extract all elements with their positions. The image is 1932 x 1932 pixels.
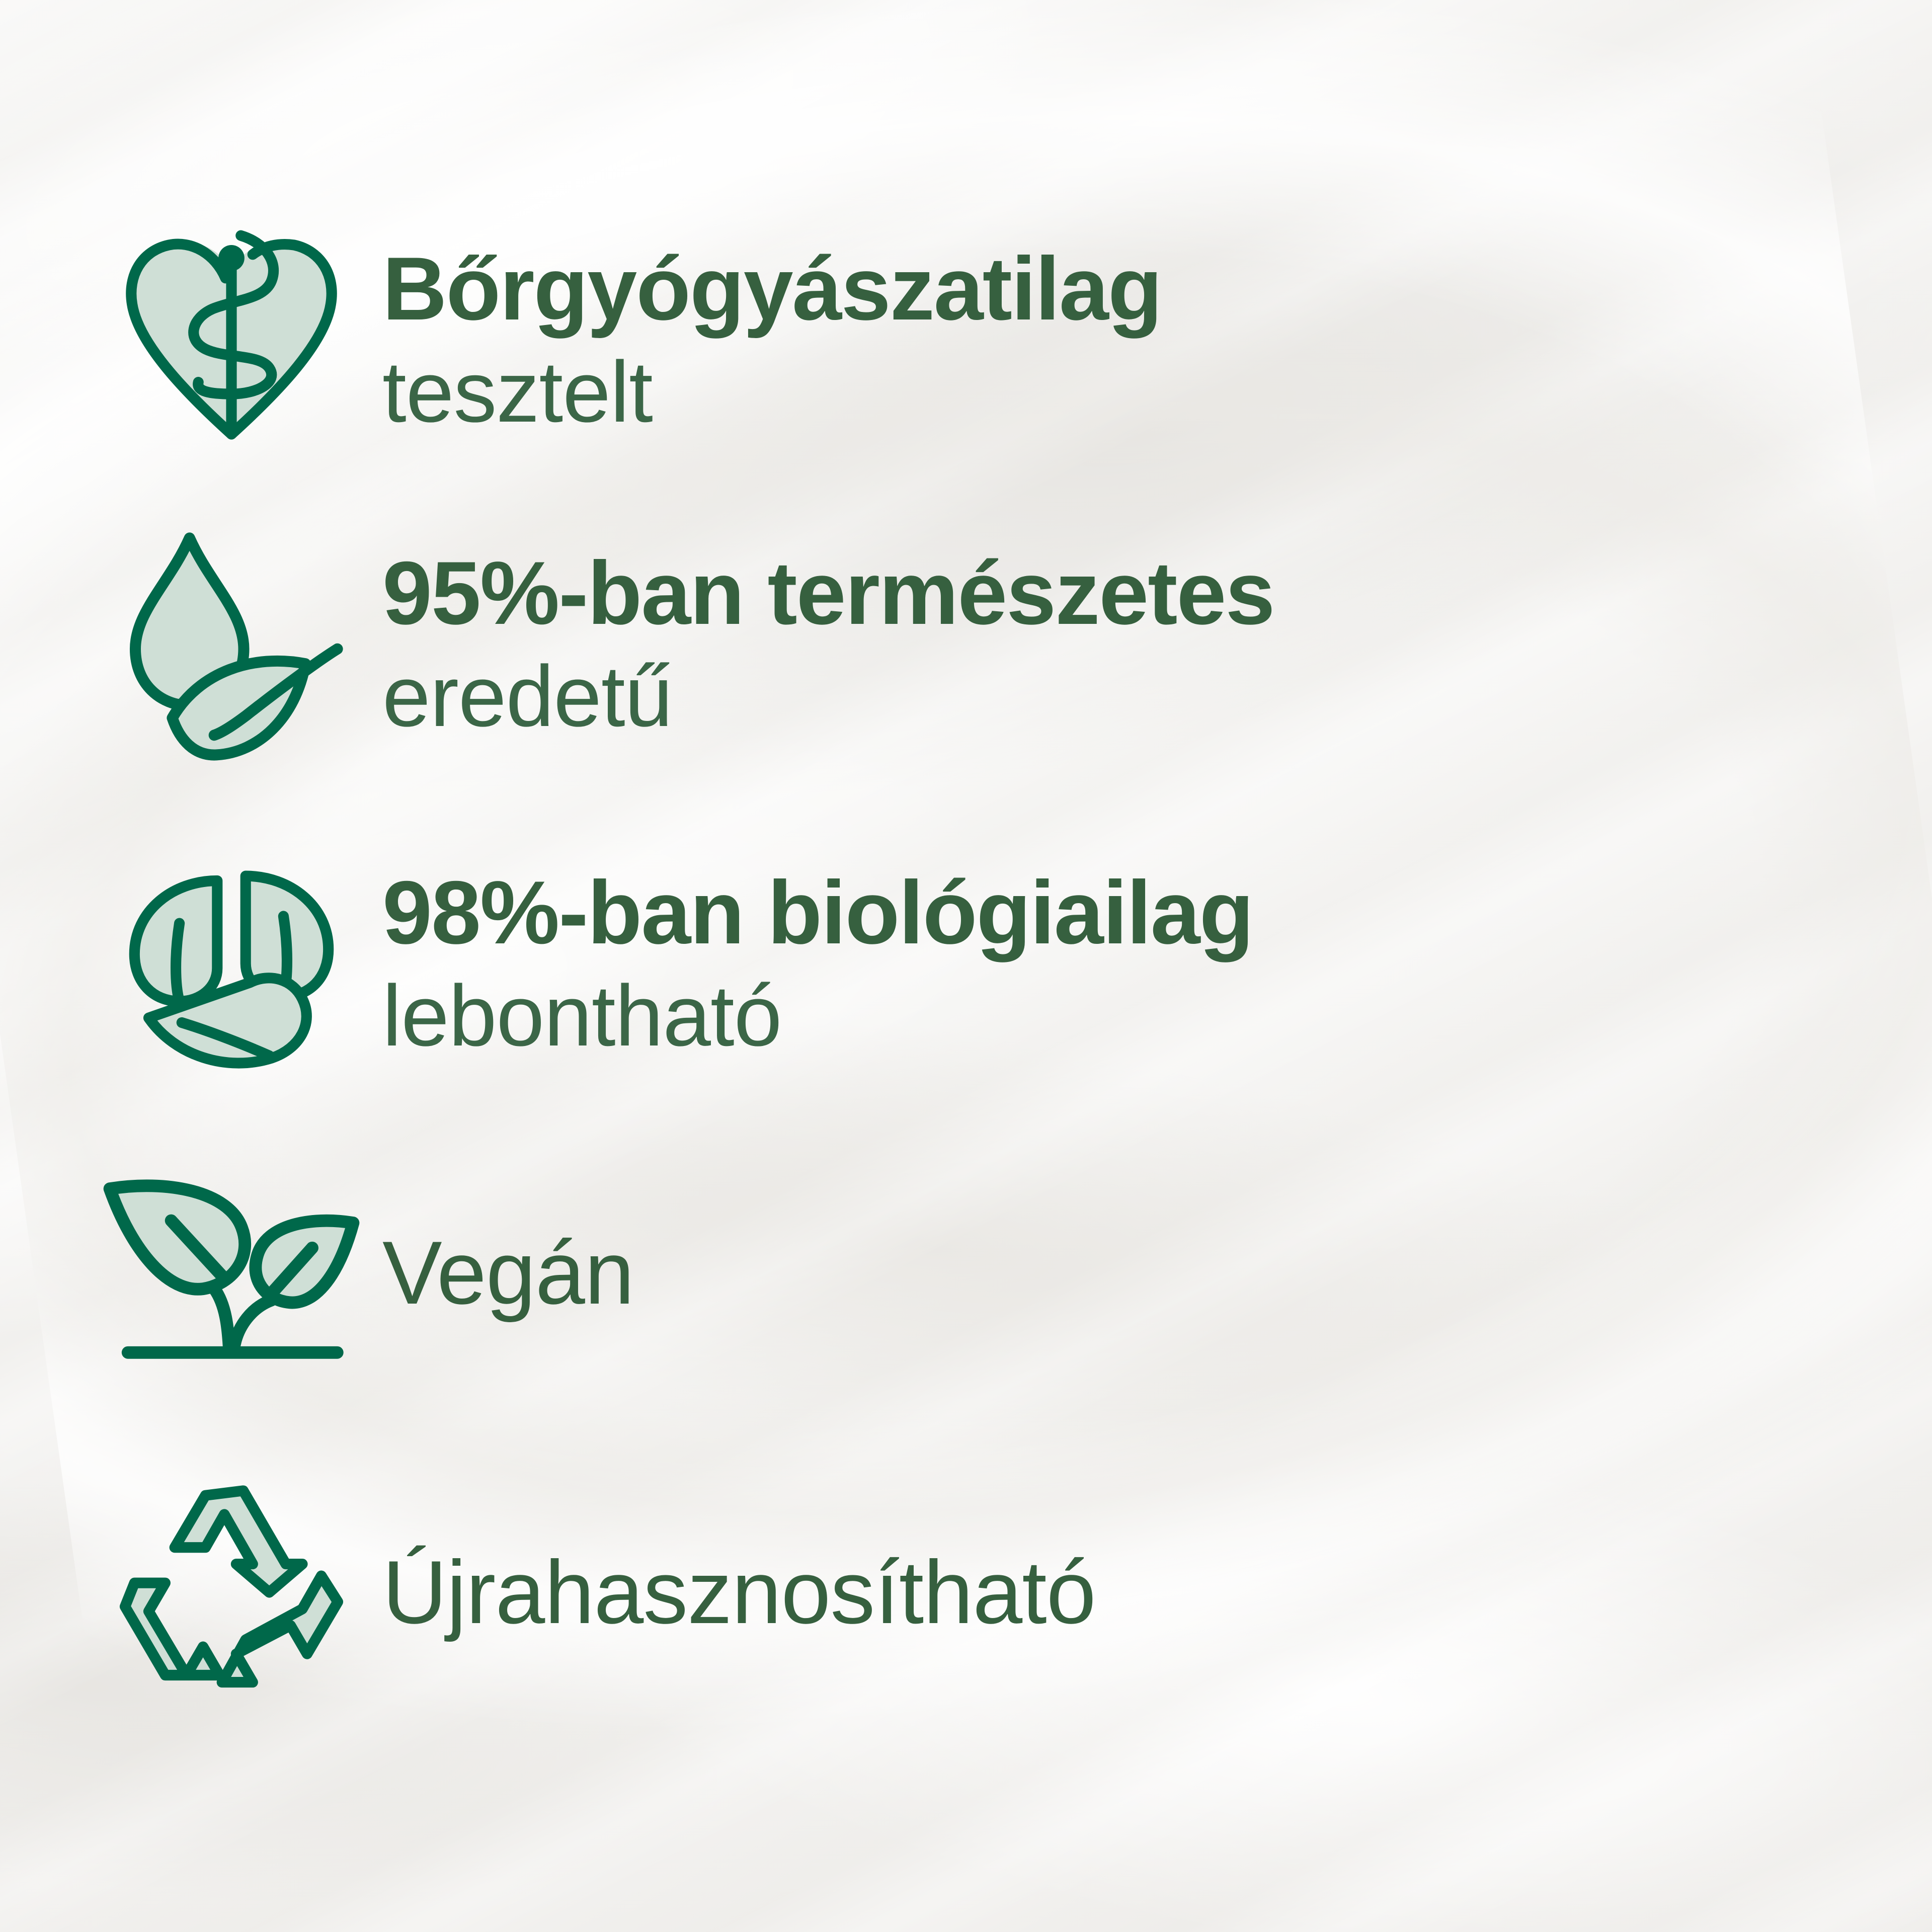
benefit-text-recyclable: Újrahasznosítható xyxy=(382,1548,1096,1637)
benefit-text-biodegradable: 98%-ban biológiailag lebontható xyxy=(382,868,1253,1059)
benefit-line-primary: Vegán xyxy=(382,1228,634,1318)
benefit-line-secondary: eredetű xyxy=(382,653,1274,740)
benefit-line-primary: 98%-ban biológiailag xyxy=(382,868,1253,957)
droplet-leaf-icon xyxy=(91,523,372,765)
benefit-text-natural-origin: 95%-ban természetes eredetű xyxy=(382,548,1274,740)
benefit-item-natural-origin: 95%-ban természetes eredetű xyxy=(91,523,1274,765)
benefit-text-vegan: Vegán xyxy=(382,1228,634,1318)
recycle-triangle-icon xyxy=(91,1474,372,1711)
benefit-line-primary: 95%-ban természetes xyxy=(382,548,1274,638)
benefit-line-primary: Bőrgyógyászatilag xyxy=(382,244,1162,334)
benefit-item-biodegradable: 98%-ban biológiailag lebontható xyxy=(91,845,1253,1082)
benefit-list: Bőrgyógyászatilag tesztelt 95%-ban termé… xyxy=(0,0,1932,1932)
three-leaves-cycle-icon xyxy=(91,845,372,1082)
benefit-text-dermatologist-tested: Bőrgyógyászatilag tesztelt xyxy=(382,244,1162,435)
benefit-line-primary: Újrahasznosítható xyxy=(382,1548,1096,1637)
product-benefits-panel: Bőrgyógyászatilag tesztelt 95%-ban termé… xyxy=(0,0,1932,1932)
benefit-item-recyclable: Újrahasznosítható xyxy=(91,1474,1096,1711)
benefit-item-vegan: Vegán xyxy=(91,1172,634,1374)
sprout-icon xyxy=(91,1172,372,1374)
benefit-item-dermatologist-tested: Bőrgyógyászatilag tesztelt xyxy=(91,221,1162,458)
benefit-line-secondary: lebontható xyxy=(382,973,1253,1059)
heart-caduceus-icon xyxy=(91,221,372,458)
benefit-line-secondary: tesztelt xyxy=(382,349,1162,435)
